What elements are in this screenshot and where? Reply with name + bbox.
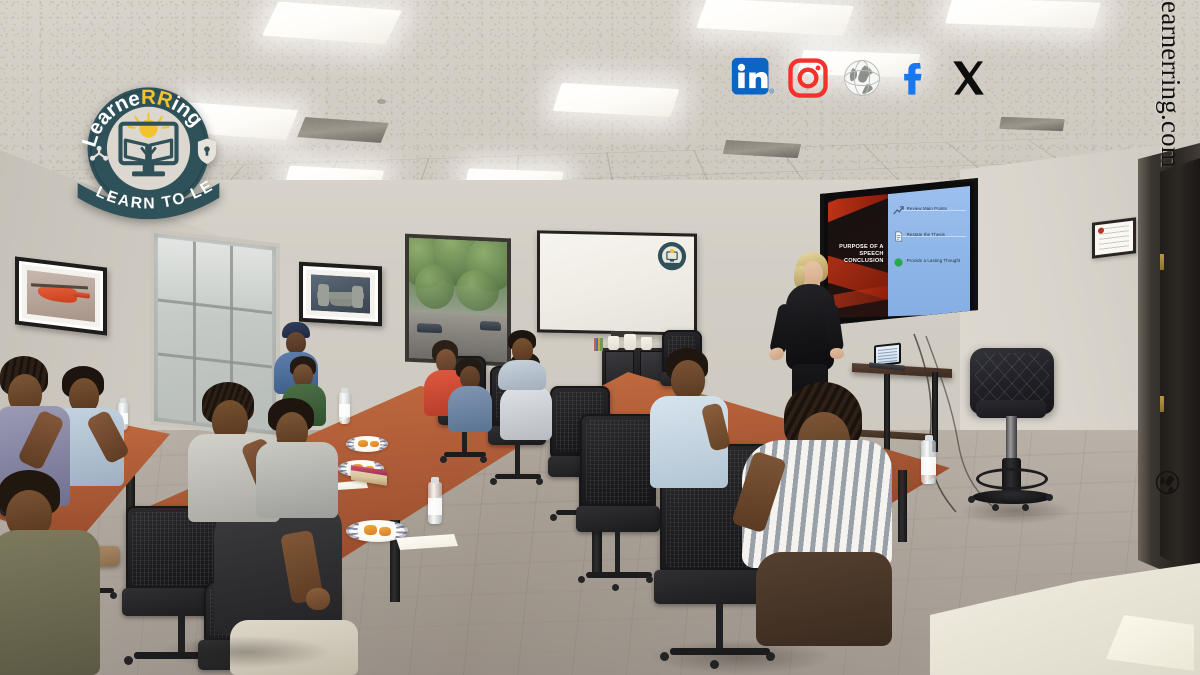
picture-image xyxy=(311,274,370,313)
student xyxy=(650,348,728,488)
student xyxy=(0,470,108,675)
supply-cup xyxy=(624,334,636,350)
website-url[interactable]: www.learnerring.com xyxy=(1155,0,1186,168)
presenter-right-hand xyxy=(830,348,844,359)
smoke-detector-icon xyxy=(377,99,386,104)
framed-helicopter-photo xyxy=(15,256,107,335)
slide-bullet-item: Provide a Lasting Thought xyxy=(893,247,966,273)
slide-bullet-item: Restate the Thesis xyxy=(893,221,966,247)
student-head xyxy=(286,332,306,354)
floor-shadow xyxy=(650,640,830,674)
ceiling-vent xyxy=(999,117,1065,131)
chart-line-icon xyxy=(893,203,904,214)
student-head xyxy=(671,360,705,400)
x-icon[interactable] xyxy=(948,57,990,104)
student-torso xyxy=(0,530,100,675)
picture-image xyxy=(27,270,95,322)
supply-cup xyxy=(608,336,619,350)
student-torso xyxy=(256,442,338,518)
student xyxy=(256,398,342,518)
student-lower-body xyxy=(756,552,892,646)
linkedin-icon[interactable]: ® xyxy=(730,56,774,105)
learnerring-logo: LearneRRing xyxy=(66,66,231,234)
slide-bullet-item: Review Main Points xyxy=(893,195,966,221)
presenter-face xyxy=(802,261,823,286)
document-icon xyxy=(893,229,904,240)
stool-gas-cylinder xyxy=(1006,416,1017,464)
classroom-photo: PURPOSE OF A SPEECH CONCLUSION Review Ma… xyxy=(0,0,1200,675)
whiteboard xyxy=(537,230,697,335)
laptop-display xyxy=(876,345,899,364)
slide-body-panel: Review Main Points Restate the Thesis xyxy=(888,186,970,318)
framed-certificate xyxy=(1092,217,1136,258)
student-torso xyxy=(500,386,552,440)
floor-shadow xyxy=(960,498,1070,524)
social-icon-row: ® xyxy=(730,54,990,106)
student xyxy=(448,358,492,432)
framed-osprey-photo xyxy=(299,262,382,327)
student-hand xyxy=(306,588,330,610)
adult-torso xyxy=(498,360,546,390)
water-bottle xyxy=(921,440,936,484)
pens-holder xyxy=(594,338,603,351)
entry-door[interactable] xyxy=(1160,158,1200,576)
adult-attendee xyxy=(498,330,546,390)
student xyxy=(742,382,902,662)
instagram-icon[interactable] xyxy=(787,57,829,104)
globe-icon[interactable] xyxy=(842,58,882,103)
svg-text:®: ® xyxy=(769,87,774,95)
facebook-icon[interactable] xyxy=(895,58,935,103)
learnerring-logo-sticker xyxy=(657,241,687,272)
adult-head xyxy=(512,338,533,362)
student-torso xyxy=(448,386,492,432)
floor-shadow xyxy=(160,636,330,668)
drafting-stool[interactable] xyxy=(966,348,1058,522)
stool-footring xyxy=(976,468,1048,490)
tv-screen: PURPOSE OF A SPEECH CONCLUSION Review Ma… xyxy=(828,186,970,318)
water-bottle xyxy=(428,482,442,524)
globe-icon xyxy=(1155,470,1180,495)
office-chair[interactable] xyxy=(576,414,660,604)
slide-bullet-text: Provide a Lasting Thought xyxy=(907,258,961,263)
green-dot-icon xyxy=(893,255,904,266)
